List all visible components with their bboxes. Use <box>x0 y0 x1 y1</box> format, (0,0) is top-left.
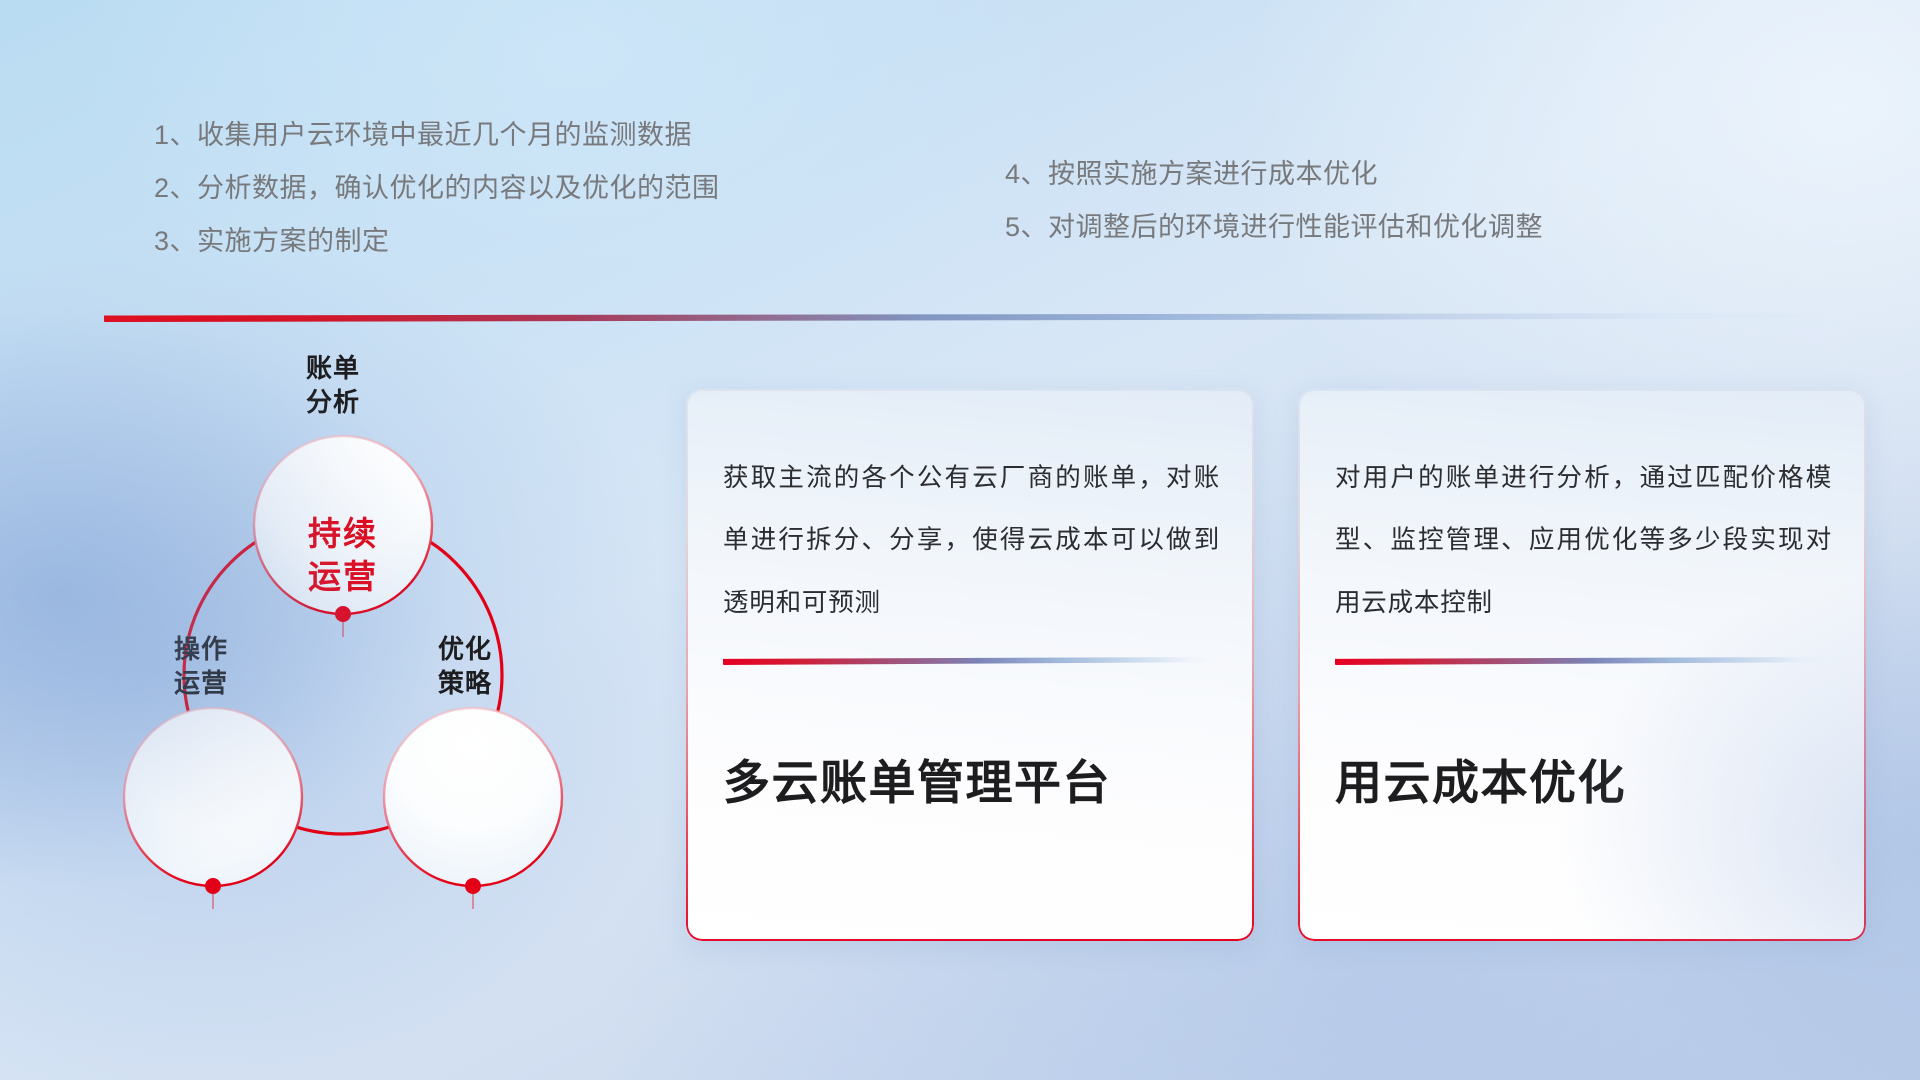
card-title: 多云账单管理平台 <box>723 755 1220 811</box>
card-title: 用云成本优化 <box>1335 755 1832 811</box>
bubble-operations-management <box>124 708 302 886</box>
card-body-text: 获取主流的各个公有云厂商的账单，对账单进行拆分、分享，使得云成本可以做到透明和可… <box>723 447 1220 634</box>
slide-canvas: 1、收集用户云环境中最近几个月的监测数据 2、分析数据，确认优化的内容以及优化的… <box>0 0 1920 1080</box>
bubble-label-optimization-strategy: 优化 策略 <box>390 632 540 701</box>
step-item-5: 5、对调整后的环境进行性能评估和优化调整 <box>1005 214 1543 241</box>
card-divider-line <box>723 657 1215 665</box>
step-item-4: 4、按照实施方案进行成本优化 <box>1005 161 1543 188</box>
step-item-2: 2、分析数据，确认优化的内容以及优化的范围 <box>154 175 720 202</box>
header-divider-line <box>104 313 1844 322</box>
node-dot-left <box>205 878 221 894</box>
steps-list-left: 1、收集用户云环境中最近几个月的监测数据 2、分析数据，确认优化的内容以及优化的… <box>154 122 720 255</box>
steps-list-right: 4、按照实施方案进行成本优化 5、对调整后的环境进行性能评估和优化调整 <box>1005 161 1543 241</box>
card-body-text: 对用户的账单进行分析，通过匹配价格模型、监控管理、应用优化等多少段实现对用云成本… <box>1335 447 1832 634</box>
card-divider-line <box>1335 657 1827 665</box>
bubble-label-operations-management: 操作 运营 <box>126 632 276 701</box>
bubble-optimization-strategy <box>384 708 562 886</box>
node-dot-top <box>335 606 351 622</box>
node-dot-right <box>465 878 481 894</box>
info-card-multi-cloud-billing-platform[interactable]: 获取主流的各个公有云厂商的账单，对账单进行拆分、分享，使得云成本可以做到透明和可… <box>686 389 1254 941</box>
bubble-label-billing-analysis: 账单 分析 <box>258 351 408 420</box>
continuous-operations-diagram: 账单 分析 操作 运营 优化 策略 持续 运营 <box>90 345 650 965</box>
step-item-3: 3、实施方案的制定 <box>154 228 720 255</box>
step-item-1: 1、收集用户云环境中最近几个月的监测数据 <box>154 122 720 149</box>
info-card-cloud-cost-optimization[interactable]: 对用户的账单进行分析，通过匹配价格模型、监控管理、应用优化等多少段实现对用云成本… <box>1298 389 1866 941</box>
diagram-center-label: 持续 运营 <box>268 513 418 599</box>
